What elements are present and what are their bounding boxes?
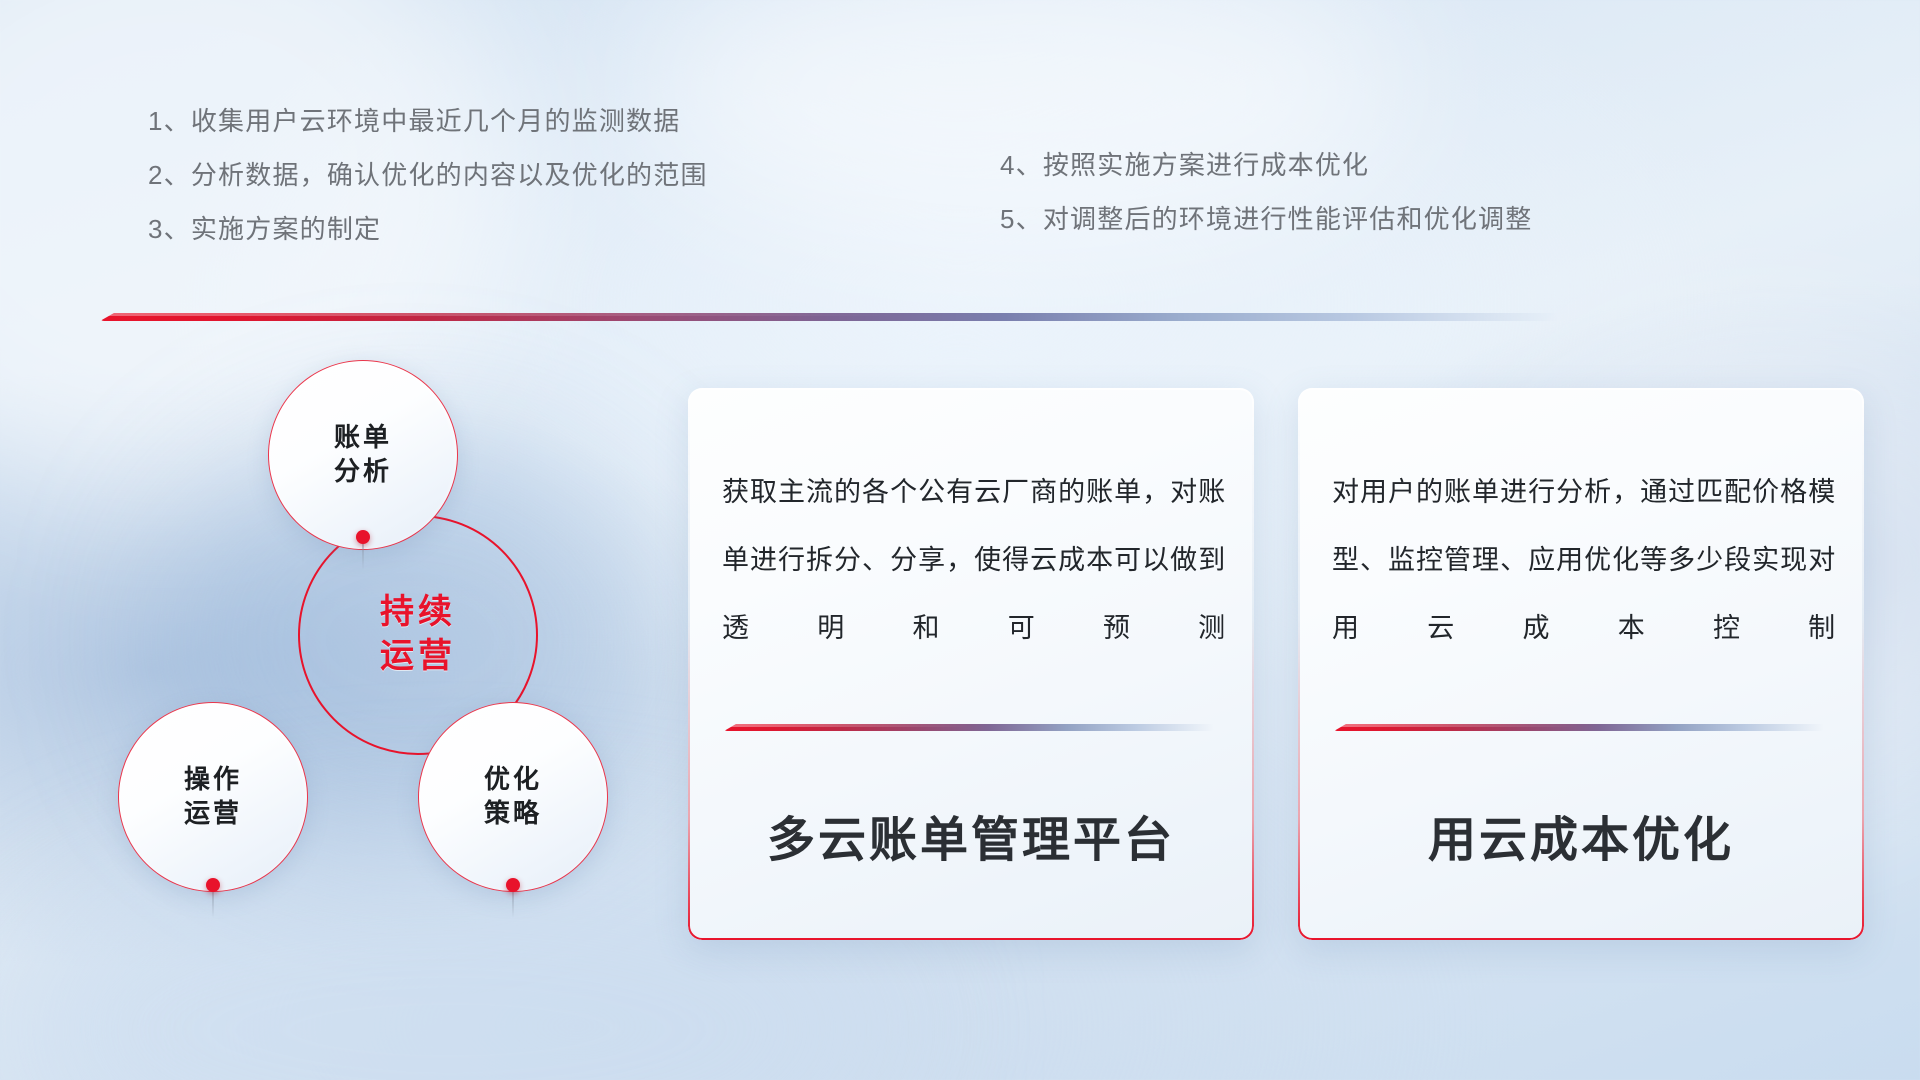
steps-right-column: 4、按照实施方案进行成本优化 5、对调整后的环境进行性能评估和优化调整 (1000, 152, 1532, 260)
card-title: 多云账单管理平台 (688, 800, 1254, 870)
card-cloud-cost-optimization[interactable]: 对用户的账单进行分析，通过匹配价格模型、监控管理、应用优化等多少段实现对用云成本… (1298, 388, 1864, 940)
node-label-line2: 运营 (184, 799, 242, 829)
node-label-line2: 分析 (334, 457, 392, 487)
card-title: 用云成本优化 (1298, 800, 1864, 870)
continuous-operations-diagram: 持续 运营 账单 分析 操作 运营 优化 策略 (100, 350, 680, 950)
diagram-node-dot (206, 878, 220, 892)
diagram-node-optimization-strategy[interactable]: 优化 策略 (418, 702, 608, 892)
card-body-text: 获取主流的各个公有云厂商的账单，对账单进行拆分、分享，使得云成本可以做到透明和可… (722, 458, 1226, 662)
node-label-line1: 优化 (484, 765, 542, 795)
diagram-connector-tail (512, 892, 514, 918)
card-body-text: 对用户的账单进行分析，通过匹配价格模型、监控管理、应用优化等多少段实现对用云成本… (1332, 458, 1836, 662)
diagram-connector-tail (362, 544, 364, 570)
step-item: 3、实施方案的制定 (148, 216, 708, 242)
node-label-line1: 账单 (334, 423, 392, 453)
center-label-line2: 运营 (380, 639, 456, 675)
card-divider-rule (724, 724, 1214, 731)
step-item: 5、对调整后的环境进行性能评估和优化调整 (1000, 206, 1532, 232)
step-item: 1、收集用户云环境中最近几个月的监测数据 (148, 108, 708, 134)
diagram-node-dot (506, 878, 520, 892)
steps-left-column: 1、收集用户云环境中最近几个月的监测数据 2、分析数据，确认优化的内容以及优化的… (148, 108, 708, 270)
diagram-node-billing-analysis[interactable]: 账单 分析 (268, 360, 458, 550)
step-item: 2、分析数据，确认优化的内容以及优化的范围 (148, 162, 708, 188)
center-label-line1: 持续 (380, 595, 456, 631)
step-item: 4、按照实施方案进行成本优化 (1000, 152, 1532, 178)
node-label-line2: 策略 (484, 799, 542, 829)
diagram-node-dot (356, 530, 370, 544)
node-label-line1: 操作 (184, 765, 242, 795)
diagram-connector-tail (212, 892, 214, 918)
section-divider-rule (100, 313, 1560, 321)
card-divider-rule (1334, 724, 1824, 731)
card-multi-cloud-billing-platform[interactable]: 获取主流的各个公有云厂商的账单，对账单进行拆分、分享，使得云成本可以做到透明和可… (688, 388, 1254, 940)
diagram-node-operations[interactable]: 操作 运营 (118, 702, 308, 892)
